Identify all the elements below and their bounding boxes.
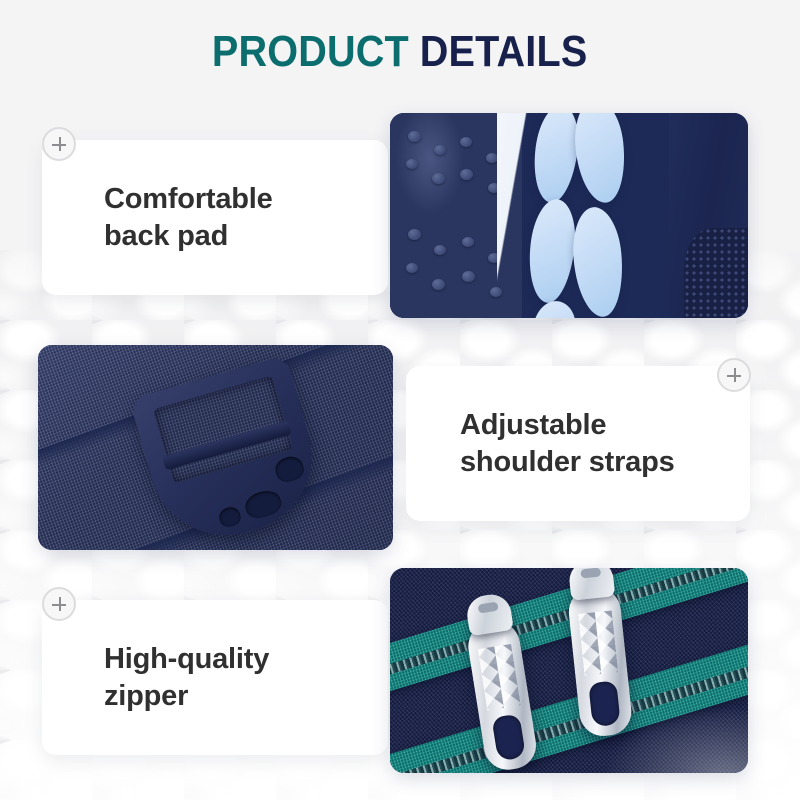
back-pad-mesh-pocket — [684, 228, 748, 318]
plus-icon-high-quality-zipper[interactable] — [42, 587, 76, 621]
feature-label-high-quality-zipper: High-quality zipper — [104, 641, 269, 715]
plus-icon-adjustable-shoulder-straps[interactable] — [717, 358, 751, 392]
zipper-pull-pattern — [478, 644, 521, 711]
zipper-photo[interactable] — [390, 568, 748, 773]
buckle-hole — [217, 505, 243, 529]
plus-icon-comfortable-back-pad[interactable] — [42, 127, 76, 161]
zipper-slider-head — [568, 568, 616, 601]
feature-card-high-quality-zipper[interactable]: High-quality zipper — [42, 600, 388, 755]
zipper-pull-hole — [491, 714, 526, 762]
shoulder-strap-photo[interactable] — [38, 345, 393, 550]
back-pad-photo[interactable] — [390, 113, 748, 318]
buckle-hole — [273, 454, 306, 485]
buckle-hole — [242, 487, 284, 521]
zipper-photo-highlight — [587, 697, 748, 773]
feature-label-comfortable-back-pad: Comfortable back pad — [104, 181, 273, 255]
feature-label-adjustable-shoulder-straps: Adjustable shoulder straps — [460, 407, 675, 481]
feature-card-adjustable-shoulder-straps[interactable]: Adjustable shoulder straps — [406, 366, 750, 521]
page-title-part-two: DETAILS — [420, 27, 588, 76]
zipper-pull-pattern — [578, 610, 618, 675]
page-header: PRODUCTDETAILS — [0, 0, 800, 104]
feature-card-comfortable-back-pad[interactable]: Comfortable back pad — [42, 140, 388, 295]
page-title: PRODUCTDETAILS — [212, 27, 588, 77]
product-details-infographic: PRODUCTDETAILS Comfortable back pad — [0, 0, 800, 800]
page-title-part-one: PRODUCT — [212, 27, 409, 76]
